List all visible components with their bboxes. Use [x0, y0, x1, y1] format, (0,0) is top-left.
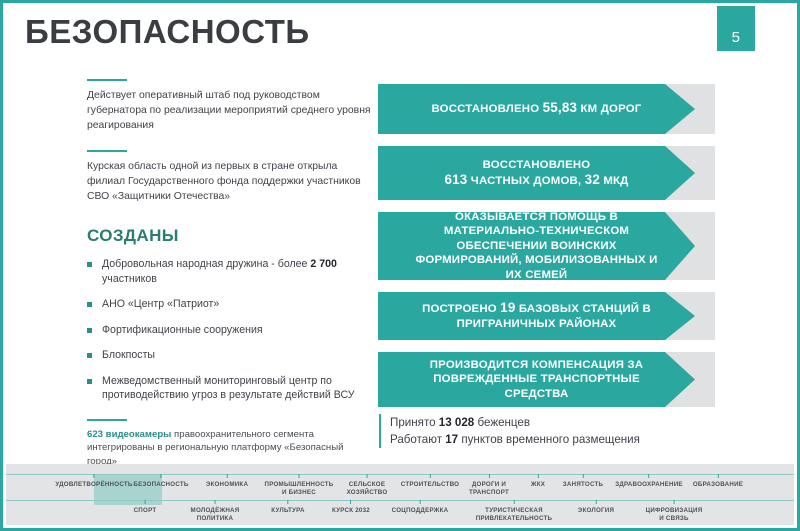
- nav-item-label: ЭКОНОМИКА: [206, 481, 248, 488]
- nav-item-занятость[interactable]: ЗАНЯТОСТЬ: [563, 474, 604, 489]
- achievement-banner: ПРОИЗВОДИТСЯ КОМПЕНСАЦИЯ ЗА ПОВРЕЖДЕННЫЕ…: [378, 352, 715, 407]
- created-heading: СОЗДАНЫ: [87, 226, 375, 246]
- created-list-item-label: Межведомственный мониторинговый центр по…: [102, 375, 354, 402]
- nav-item-label: БЕЗОПАСНОСТЬ: [133, 481, 188, 488]
- nav-tick-icon: [583, 474, 584, 478]
- achievement-banner-value: 32: [585, 172, 600, 187]
- achievement-banner-fill: ОКАЗЫВАЕТСЯ ПОМОЩЬ В МАТЕРИАЛЬНО-ТЕХНИЧЕ…: [378, 212, 695, 280]
- nav-tick-icon: [299, 474, 300, 478]
- refugees-summary: Принято 13 028 беженцевРаботают 17 пункт…: [379, 414, 640, 448]
- nav-tick-icon: [93, 474, 94, 478]
- nav-item-жкх[interactable]: ЖКХ: [531, 474, 545, 489]
- nav-tick-icon: [718, 474, 719, 478]
- nav-tick-icon: [648, 474, 649, 478]
- achievement-banner-fill: ВОССТАНОВЛЕНО613 ЧАСТНЫХ ДОМОВ, 32 МКД: [378, 146, 695, 200]
- nav-item-label: КУРСК 2032: [332, 507, 370, 514]
- nav-tick-icon: [227, 474, 228, 478]
- nav-item-строительство[interactable]: СТРОИТЕЛЬСТВО: [401, 474, 459, 489]
- intro-paragraph-2: Курская область одной из первых в стране…: [87, 159, 375, 204]
- nav-item-label: СПОРТ: [134, 507, 157, 514]
- achievement-banner-value: 613: [444, 172, 467, 187]
- nav-item-цифровизация-и-связь[interactable]: ЦИФРОВИЗАЦИЯ И СВЯЗЬ: [646, 500, 703, 523]
- achievement-banner-fill: ПРОИЗВОДИТСЯ КОМПЕНСАЦИЯ ЗА ПОВРЕЖДЕННЫЕ…: [378, 352, 695, 407]
- nav-item-label: ЭКОЛОГИЯ: [578, 507, 614, 514]
- section-navigation-bar[interactable]: УДОВЛЕТВОРЁННОСТЬБЕЗОПАСНОСТЬЭКОНОМИКАПР…: [6, 464, 794, 525]
- nav-item-спорт[interactable]: СПОРТ: [134, 500, 157, 515]
- bullet-square-icon: [87, 302, 92, 307]
- created-list-item-label: АНО «Центр «Патриот»: [102, 298, 219, 310]
- nav-item-экономика[interactable]: ЭКОНОМИКА: [206, 474, 248, 489]
- bullet-square-icon: [87, 328, 92, 333]
- nav-item-label: ЦИФРОВИЗАЦИЯ И СВЯЗЬ: [646, 507, 703, 522]
- achievement-banner-label: ВОССТАНОВЛЕНО613 ЧАСТНЫХ ДОМОВ, 32 МКД: [444, 158, 628, 188]
- nav-item-label: ТУРИСТИЧЕСКАЯ ПРИВЛЕКАТЕЛЬНОСТЬ: [476, 507, 553, 522]
- nav-item-label: СОЦПОДДЕРЖКА: [392, 507, 449, 514]
- created-list: Добровольная народная дружина - более 2 …: [87, 257, 375, 403]
- cameras-block: 623 видеокамеры правоохранительного сегм…: [87, 419, 375, 469]
- nav-item-промышленность-и-бизнес[interactable]: ПРОМЫШЛЕННОСТЬ И БИЗНЕС: [265, 474, 334, 497]
- nav-tick-icon: [145, 500, 146, 504]
- nav-tick-icon: [287, 500, 288, 504]
- nav-item-label: ЖКХ: [531, 481, 545, 488]
- nav-item-здравоохранение[interactable]: ЗДРАВООХРАНЕНИЕ: [615, 474, 683, 489]
- nav-tick-icon: [350, 500, 351, 504]
- bullet-square-icon: [87, 262, 92, 267]
- intro-paragraph-1: Действует оперативный штаб под руководст…: [87, 88, 375, 133]
- achievement-banner-list: ВОССТАНОВЛЕНО 55,83 КМ ДОРОГВОССТАНОВЛЕН…: [378, 84, 718, 419]
- nav-item-label: ПРОМЫШЛЕННОСТЬ И БИЗНЕС: [265, 481, 334, 496]
- nav-tick-icon: [674, 500, 675, 504]
- divider-rule-2: [87, 150, 127, 152]
- achievement-banner-label: ПОСТРОЕНО 19 БАЗОВЫХ СТАНЦИЙ В ПРИГРАНИЧ…: [412, 301, 661, 331]
- achievement-banner-label: ОКАЗЫВАЕТСЯ ПОМОЩЬ В МАТЕРИАЛЬНО-ТЕХНИЧЕ…: [412, 210, 661, 283]
- summary-line: Принято 13 028 беженцев: [390, 414, 640, 431]
- created-list-item-label: Блокпосты: [102, 349, 155, 361]
- nav-tick-icon: [160, 474, 161, 478]
- created-list-item-value: 2 700: [310, 258, 337, 270]
- bullet-square-icon: [87, 353, 92, 358]
- nav-item-культура[interactable]: КУЛЬТУРА: [271, 500, 304, 515]
- nav-item-сельское-хозяйство[interactable]: СЕЛЬСКОЕ ХОЗЯЙСТВО: [347, 474, 388, 497]
- nav-item-дороги-и-транспорт[interactable]: ДОРОГИ И ТРАНСПОРТ: [469, 474, 509, 497]
- nav-item-соцподдержка[interactable]: СОЦПОДДЕРЖКА: [392, 500, 449, 515]
- achievement-banner-value: 55,83: [543, 100, 578, 115]
- nav-tick-icon: [538, 474, 539, 478]
- cameras-text: 623 видеокамеры правоохранительного сегм…: [87, 428, 375, 469]
- nav-tick-icon: [420, 500, 421, 504]
- summary-line: Работают 17 пунктов временного размещени…: [390, 431, 640, 448]
- achievement-banner: ВОССТАНОВЛЕНО613 ЧАСТНЫХ ДОМОВ, 32 МКД: [378, 146, 715, 200]
- nav-item-безопасность[interactable]: БЕЗОПАСНОСТЬ: [133, 474, 188, 489]
- bullet-square-icon: [87, 379, 92, 384]
- nav-item-label: ОБРАЗОВАНИЕ: [693, 481, 743, 488]
- nav-tick-icon: [214, 500, 215, 504]
- summary-value: 17: [445, 433, 458, 446]
- achievement-banner: ОКАЗЫВАЕТСЯ ПОМОЩЬ В МАТЕРИАЛЬНО-ТЕХНИЧЕ…: [378, 212, 715, 280]
- nav-item-курск-2032[interactable]: КУРСК 2032: [332, 500, 370, 515]
- nav-item-label: МОЛОДЁЖНАЯ ПОЛИТИКА: [191, 507, 240, 522]
- summary-value: 13 028: [439, 416, 474, 429]
- created-list-item: Межведомственный мониторинговый центр по…: [87, 374, 375, 403]
- presentation-slide: БЕЗОПАСНОСТЬ 5 Действует оперативный шта…: [0, 0, 800, 531]
- nav-item-label: ДОРОГИ И ТРАНСПОРТ: [469, 481, 509, 496]
- achievement-banner: ПОСТРОЕНО 19 БАЗОВЫХ СТАНЦИЙ В ПРИГРАНИЧ…: [378, 292, 715, 340]
- achievement-banner-fill: ПОСТРОЕНО 19 БАЗОВЫХ СТАНЦИЙ В ПРИГРАНИЧ…: [378, 292, 695, 340]
- nav-item-молодёжная-политика[interactable]: МОЛОДЁЖНАЯ ПОЛИТИКА: [191, 500, 240, 523]
- nav-tick-icon: [429, 474, 430, 478]
- nav-item-туристическая-привлекательность[interactable]: ТУРИСТИЧЕСКАЯ ПРИВЛЕКАТЕЛЬНОСТЬ: [476, 500, 553, 523]
- created-list-item: Добровольная народная дружина - более 2 …: [87, 257, 375, 286]
- nav-item-label: УДОВЛЕТВОРЁННОСТЬ: [55, 481, 132, 488]
- nav-item-удовлетворённость[interactable]: УДОВЛЕТВОРЁННОСТЬ: [55, 474, 132, 489]
- left-content-column: Действует оперативный штаб под руководст…: [87, 79, 375, 468]
- created-list-item: Блокпосты: [87, 348, 375, 363]
- nav-item-label: КУЛЬТУРА: [271, 507, 304, 514]
- created-list-item: Фортификационные сооружения: [87, 323, 375, 338]
- divider-rule-3: [87, 419, 127, 421]
- created-list-item-label: Фортификационные сооружения: [102, 324, 263, 336]
- achievement-banner-value: 19: [500, 300, 515, 315]
- divider-rule-1: [87, 79, 127, 81]
- nav-item-label: ЗДРАВООХРАНЕНИЕ: [615, 481, 683, 488]
- nav-tick-icon: [367, 474, 368, 478]
- nav-item-label: СТРОИТЕЛЬСТВО: [401, 481, 459, 488]
- nav-tick-icon: [488, 474, 489, 478]
- created-list-item: АНО «Центр «Патриот»: [87, 297, 375, 312]
- achievement-banner: ВОССТАНОВЛЕНО 55,83 КМ ДОРОГ: [378, 84, 715, 134]
- nav-item-label: ЗАНЯТОСТЬ: [563, 481, 604, 488]
- cameras-highlight: 623 видеокамеры: [87, 429, 171, 440]
- page-number-badge: 5: [717, 6, 755, 51]
- achievement-banner-label: ВОССТАНОВЛЕНО 55,83 КМ ДОРОГ: [432, 101, 642, 117]
- nav-tick-icon: [513, 500, 514, 504]
- nav-item-экология[interactable]: ЭКОЛОГИЯ: [578, 500, 614, 515]
- spacer: [87, 133, 375, 150]
- page-title: БЕЗОПАСНОСТЬ: [25, 15, 310, 48]
- achievement-banner-label: ПРОИЗВОДИТСЯ КОМПЕНСАЦИЯ ЗА ПОВРЕЖДЕННЫЕ…: [412, 358, 661, 402]
- nav-item-образование[interactable]: ОБРАЗОВАНИЕ: [693, 474, 743, 489]
- created-list-item-label: Добровольная народная дружина - более 2 …: [102, 258, 337, 285]
- nav-tick-icon: [596, 500, 597, 504]
- achievement-banner-fill: ВОССТАНОВЛЕНО 55,83 КМ ДОРОГ: [378, 84, 695, 134]
- nav-item-label: СЕЛЬСКОЕ ХОЗЯЙСТВО: [347, 481, 388, 496]
